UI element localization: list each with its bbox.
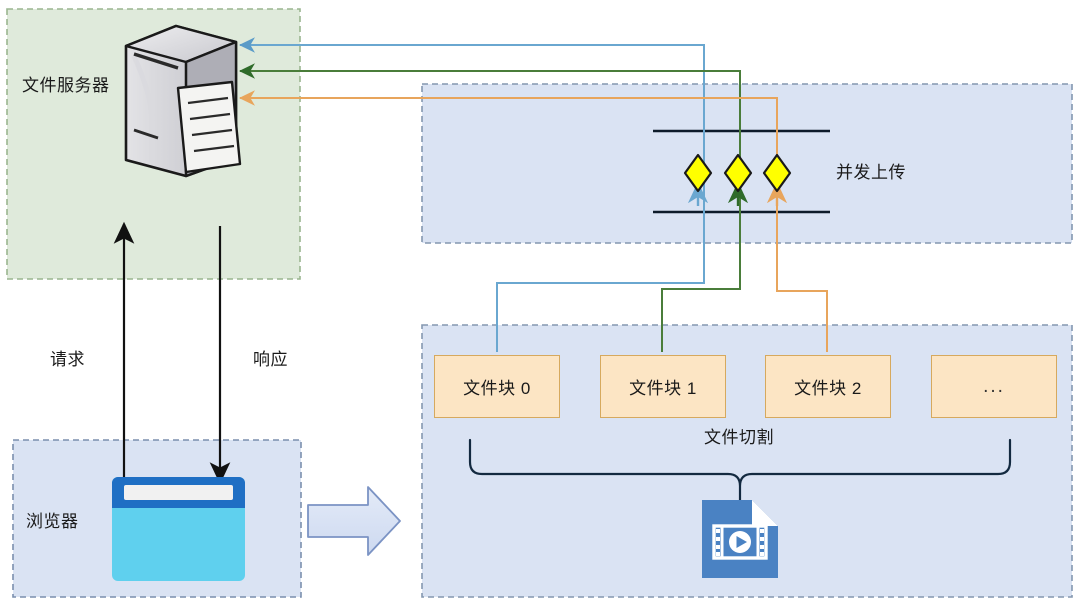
chunk-label-2: 文件块 2 (794, 374, 862, 399)
diamond-marker-2 (764, 155, 790, 191)
chunk-box-2[interactable]: 文件块 2 (765, 355, 891, 418)
chunk-box-1[interactable]: 文件块 1 (600, 355, 726, 418)
diamond-marker-0 (685, 155, 711, 191)
stream-2-path (240, 98, 827, 352)
chunk-label-1: 文件块 1 (629, 374, 697, 399)
flow-label-response: 响应 (253, 350, 288, 370)
stream-0-path (240, 45, 704, 352)
diagram-canvas: 文件服务器 并发上传 文件切割 浏览器 请求 响应 文件块 0 文件块 1 文件… (0, 0, 1080, 608)
chunk-box-more[interactable]: ... (931, 355, 1057, 418)
chunk-label-0: 文件块 0 (463, 374, 531, 399)
diagram-vector-layer (0, 0, 1080, 608)
flow-label-request: 请求 (50, 350, 85, 370)
block-arrow-right-icon (308, 487, 400, 555)
zone-label-browser: 浏览器 (26, 512, 79, 532)
zone-label-file-split: 文件切割 (704, 428, 774, 448)
chunk-label-more: ... (983, 376, 1005, 398)
diamond-marker-1 (725, 155, 751, 191)
zone-file-server (7, 9, 300, 279)
chunk-box-0[interactable]: 文件块 0 (434, 355, 560, 418)
zone-label-file-server: 文件服务器 (22, 76, 110, 96)
video-file-icon (702, 500, 778, 578)
server-tower-icon (126, 26, 236, 176)
document-page-icon (178, 82, 240, 172)
zone-concurrent-upload (422, 84, 1072, 243)
browser-window-icon (112, 477, 245, 581)
stream-1-path (240, 71, 740, 352)
zone-label-concurrent-upload: 并发上传 (836, 163, 906, 183)
